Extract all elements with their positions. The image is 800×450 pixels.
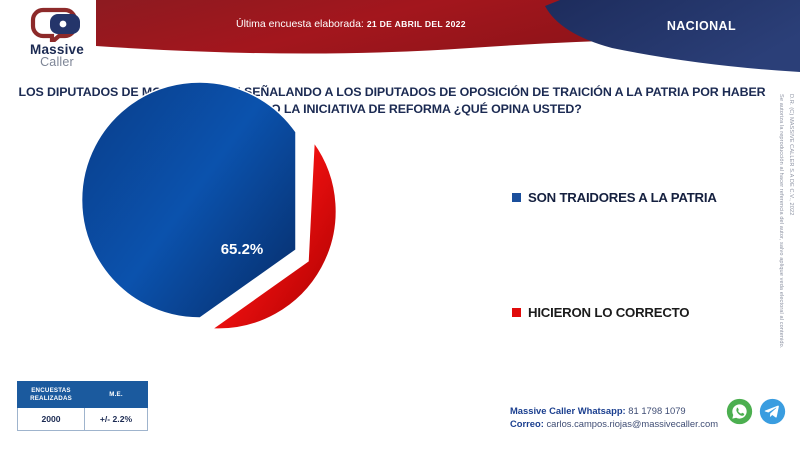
legend-item-son-traidores[interactable]: SON TRAIDORES A LA PATRIA — [512, 186, 782, 208]
logo-word-caller: Caller — [18, 56, 96, 69]
survey-stats-table: ENCUESTAS REALIZADAS M.E. 2000 +/- 2.2% — [17, 381, 148, 431]
legal-copyright: D.R. (C) MASSIVE CALLER S.A DE C.V., 202… — [788, 94, 794, 215]
table-header-encuestas-line2: REALIZADAS — [30, 395, 72, 402]
chart-legend: SON TRAIDORES A LA PATRIA HICIERON LO CO… — [512, 186, 782, 323]
header-navy-band — [545, 0, 800, 72]
survey-date-label: Última encuesta elaborada: — [236, 18, 364, 30]
legend-item-hicieron-correcto[interactable]: HICIERON LO CORRECTO — [512, 301, 782, 323]
speech-bubbles-logo-icon — [18, 6, 96, 42]
survey-date-value: 21 DE ABRIL DEL 2022 — [367, 19, 466, 29]
legend-label-hicieron-correcto: HICIERON LO CORRECTO — [528, 305, 689, 320]
social-links — [726, 398, 786, 425]
table-cell-encuestas-value: 2000 — [18, 408, 85, 431]
contact-info: Massive Caller Whatsapp: 81 1798 1079 Co… — [510, 404, 718, 430]
contact-whatsapp-value: 81 1798 1079 — [628, 405, 685, 416]
telegram-icon[interactable] — [759, 398, 786, 425]
contact-email-label: Correo: — [510, 418, 544, 429]
table-header-me: M.E. — [85, 382, 148, 408]
contact-email-value[interactable]: carlos.campos.riojas@massivecaller.com — [546, 418, 718, 429]
legal-reproduction-notice: Se autoriza la reproducción al hacer ref… — [778, 94, 784, 349]
contact-email-line: Correo: carlos.campos.riojas@massivecall… — [510, 417, 718, 430]
whatsapp-icon[interactable] — [726, 398, 753, 425]
table-row: 2000 +/- 2.2% — [18, 408, 148, 431]
header-banner-shapes — [0, 0, 800, 80]
scope-label: NACIONAL — [667, 19, 736, 33]
contact-whatsapp-line: Massive Caller Whatsapp: 81 1798 1079 — [510, 404, 718, 417]
table-header-row: ENCUESTAS REALIZADAS M.E. — [18, 382, 148, 408]
legend-label-son-traidores: SON TRAIDORES A LA PATRIA — [528, 190, 717, 205]
table-header-encuestas-line1: ENCUESTAS — [31, 387, 71, 394]
table-cell-me-value: +/- 2.2% — [85, 408, 148, 431]
page-header: Massive Caller Última encuesta elaborada… — [0, 0, 800, 80]
survey-date: Última encuesta elaborada:21 DE ABRIL DE… — [236, 18, 466, 30]
legal-notice: D.R. (C) MASSIVE CALLER S.A DE C.V., 202… — [772, 86, 800, 396]
contact-whatsapp-label: Massive Caller Whatsapp: — [510, 405, 626, 416]
legend-marker-red — [512, 308, 521, 317]
pie-label-hicieron-correcto: 34.8% — [342, 261, 385, 278]
legend-marker-blue — [512, 193, 521, 202]
pie-chart: 65.2% 34.8% — [176, 128, 426, 376]
brand-logo: Massive Caller — [18, 6, 96, 68]
pie-label-son-traidores: 65.2% — [221, 241, 264, 258]
table-header-encuestas: ENCUESTAS REALIZADAS — [18, 382, 85, 408]
